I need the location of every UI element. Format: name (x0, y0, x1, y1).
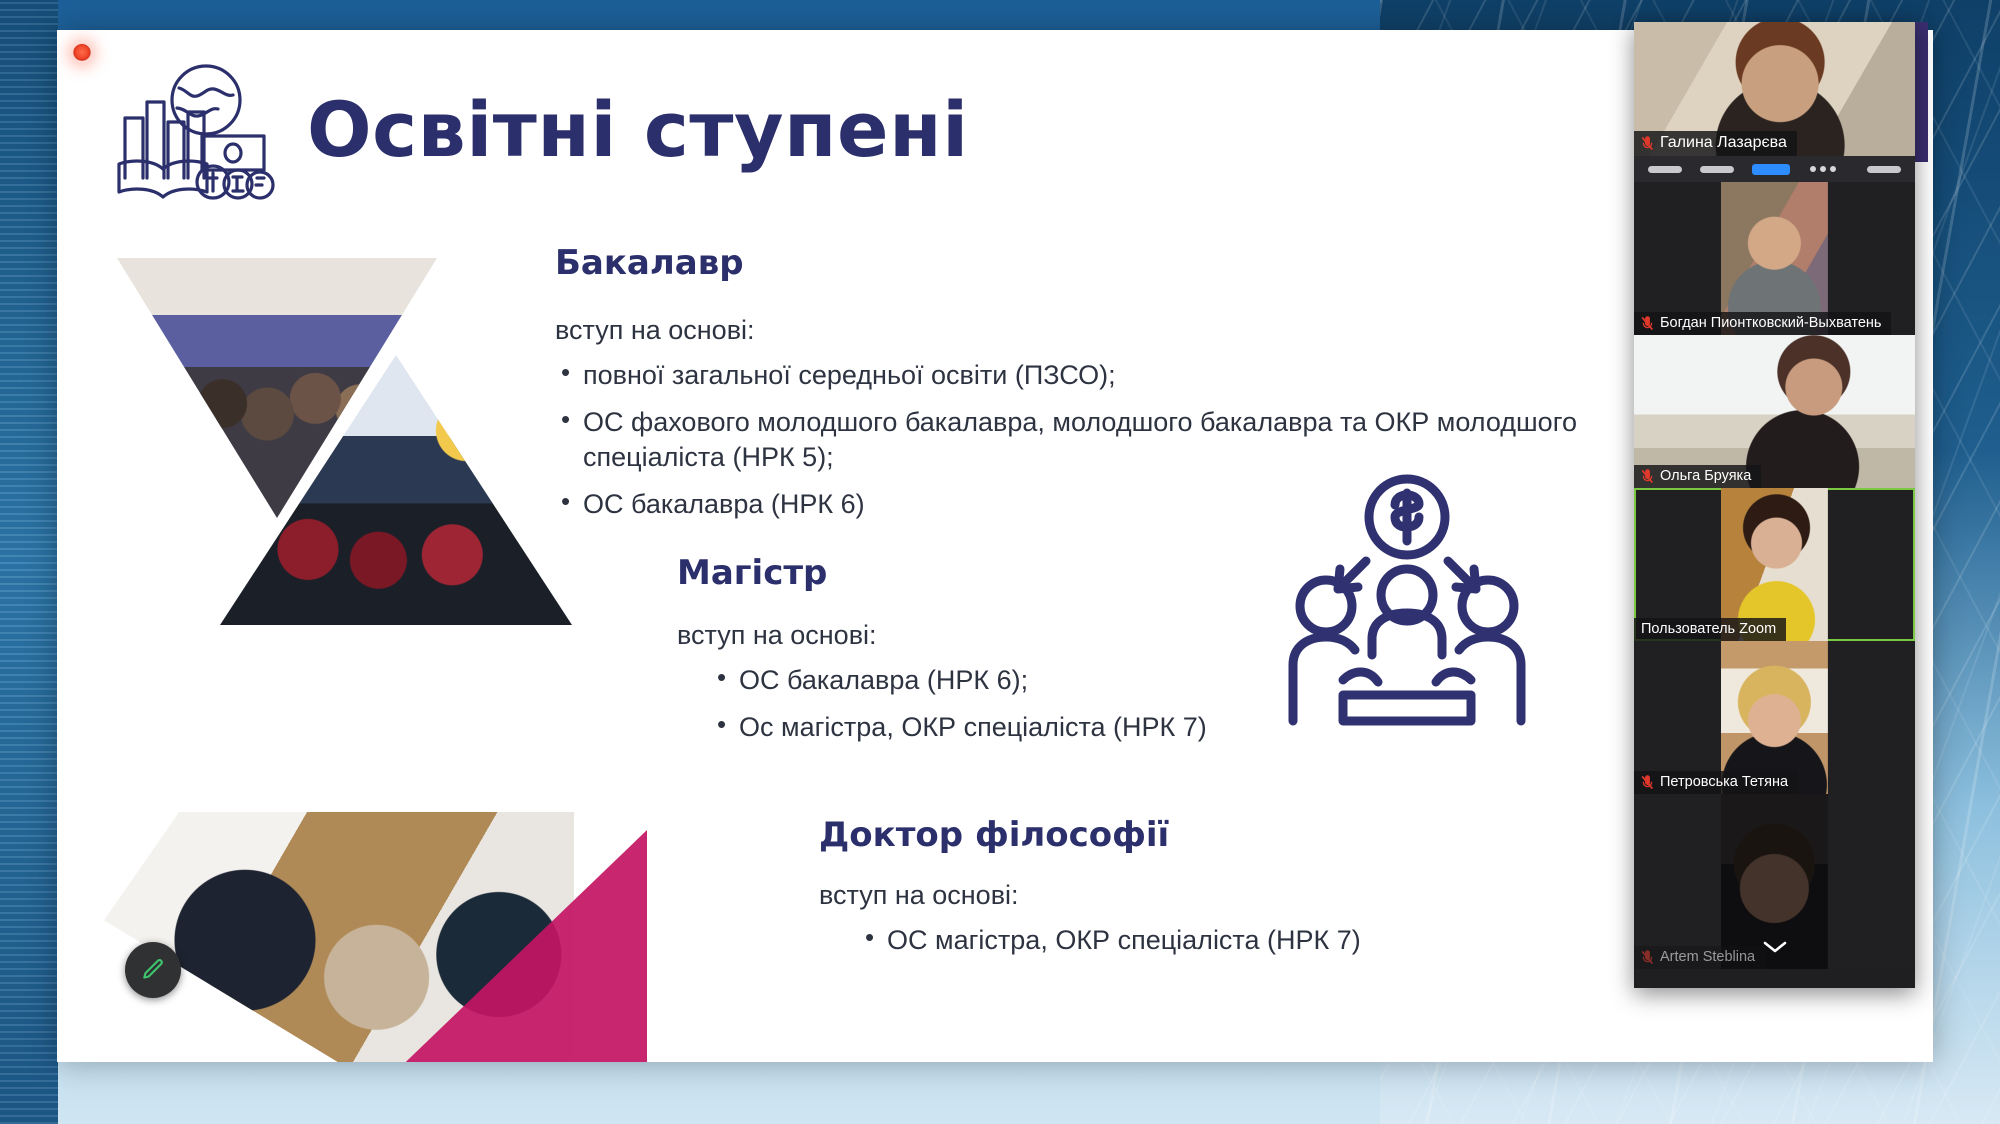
participant-name: Петровська Тетяна (1660, 774, 1788, 790)
participant-name-bar: Богдан Пионтковский-Выхватень (1634, 312, 1891, 335)
list-item: повної загальної середньої освіти (ПЗСО)… (555, 358, 1655, 393)
more-options-icon[interactable] (1810, 166, 1836, 172)
section-heading-phd: Доктор філософії (819, 815, 1169, 855)
video-tile-participant-2[interactable]: Ольга Бруяка (1634, 335, 1915, 488)
microphone-muted-icon (1641, 469, 1654, 484)
video-tile-participant-4[interactable]: Петровська Тетяна (1634, 641, 1915, 794)
participant-name-bar: Галина Лазарєва (1634, 131, 1797, 156)
participant-name-bar: Пользователь Zoom (1634, 618, 1786, 641)
microphone-muted-icon (1641, 136, 1654, 151)
list-item: ОС магістра, ОКР спеціаліста (НРК 7) (859, 923, 1719, 958)
section-body-phd: вступ на основі: ОС магістра, ОКР спеціа… (819, 878, 1719, 970)
people-meeting-money-icon (1282, 473, 1532, 738)
participant-name-bar: Ольга Бруяка (1634, 465, 1761, 488)
section-intro-phd: вступ на основі: (819, 878, 1719, 913)
participant-name: Галина Лазарєва (1660, 134, 1787, 152)
toolbar-pill-2[interactable] (1700, 166, 1734, 173)
slide-title-row: Освітні ступені (109, 60, 969, 200)
annotate-pencil-button[interactable] (125, 942, 181, 998)
participant-name: Ольга Бруяка (1660, 468, 1751, 484)
microphone-muted-icon (1641, 316, 1654, 331)
section-heading-bachelor: Бакалавр (555, 243, 744, 283)
filmstrip-toolbar[interactable] (1634, 156, 1915, 182)
participant-name: Богдан Пионтковский-Выхватень (1660, 315, 1881, 331)
list-item: ОС фахового молодшого бакалавра, молодшо… (555, 405, 1655, 475)
participant-filmstrip[interactable]: Галина Лазарєва Богдан Пионтковский-Выхв… (1634, 22, 1915, 988)
section-heading-master: Магістр (677, 553, 827, 593)
toolbar-pill-1[interactable] (1648, 166, 1682, 173)
toolbar-pill-right[interactable] (1867, 166, 1901, 173)
page-title: Освітні ступені (307, 90, 969, 170)
economy-globe-money-book-icon (109, 60, 279, 200)
participant-name: Artem Steblina (1660, 949, 1755, 965)
bullet-list-phd: ОС магістра, ОКР спеціаліста (НРК 7) (859, 923, 1719, 958)
pencil-icon (140, 957, 166, 983)
participant-name-bar: Петровська Тетяна (1634, 771, 1798, 794)
video-tile-participant-1[interactable]: Богдан Пионтковский-Выхватень (1634, 182, 1915, 335)
video-tile-participant-0[interactable]: Галина Лазарєва (1634, 22, 1915, 156)
microphone-muted-icon (1641, 775, 1654, 790)
participant-name: Пользователь Zoom (1641, 621, 1776, 637)
microphone-muted-icon (1641, 950, 1654, 965)
section-intro-bachelor: вступ на основі: (555, 313, 1655, 348)
recording-indicator (73, 44, 91, 62)
toolbar-pill-active[interactable] (1752, 164, 1790, 175)
video-tile-participant-5[interactable]: Artem Steblina (1634, 794, 1915, 969)
chevron-down-icon[interactable] (1762, 939, 1788, 955)
video-tile-participant-3[interactable]: Пользователь Zoom (1634, 488, 1915, 641)
participant-name-bar: Artem Steblina (1634, 946, 1765, 969)
